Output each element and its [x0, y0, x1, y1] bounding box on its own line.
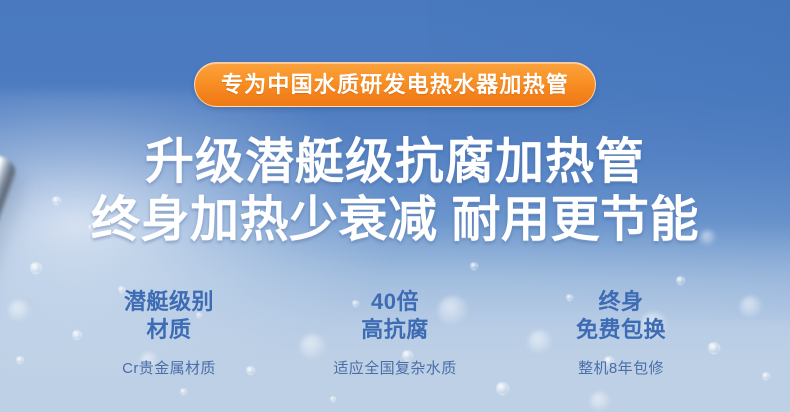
feature-item-material: 潜艇级别 材质 Cr贵金属材质: [56, 288, 282, 378]
product-promo-banner: 专为中国水质研发电热水器加热管 升级潜艇级抗腐加热管 终身加热少衰减 耐用更节能…: [0, 0, 790, 412]
headline-block: 升级潜艇级抗腐加热管 终身加热少衰减 耐用更节能: [0, 137, 790, 247]
feature-subtitle: 适应全国复杂水质: [282, 357, 508, 378]
feature-subtitle: Cr贵金属材质: [56, 357, 282, 378]
banner-content: 专为中国水质研发电热水器加热管 升级潜艇级抗腐加热管 终身加热少衰减 耐用更节能…: [0, 0, 790, 412]
feature-title: 终身 免费包换: [508, 288, 734, 344]
feature-subtitle: 整机8年包修: [508, 357, 734, 378]
headline-line-2: 终身加热少衰减 耐用更节能: [0, 195, 790, 247]
tagline-badge-label: 专为中国水质研发电热水器加热管: [221, 74, 569, 96]
headline-line-1: 升级潜艇级抗腐加热管: [0, 137, 790, 189]
feature-item-corrosion: 40倍 高抗腐 适应全国复杂水质: [282, 288, 508, 378]
tagline-badge: 专为中国水质研发电热水器加热管: [194, 62, 596, 107]
feature-item-warranty: 终身 免费包换 整机8年包修: [508, 288, 734, 378]
feature-list: 潜艇级别 材质 Cr贵金属材质 40倍 高抗腐 适应全国复杂水质 终身 免费包换…: [0, 288, 790, 378]
badge-row: 专为中国水质研发电热水器加热管: [0, 62, 790, 107]
feature-title: 潜艇级别 材质: [56, 288, 282, 344]
feature-title: 40倍 高抗腐: [282, 288, 508, 344]
